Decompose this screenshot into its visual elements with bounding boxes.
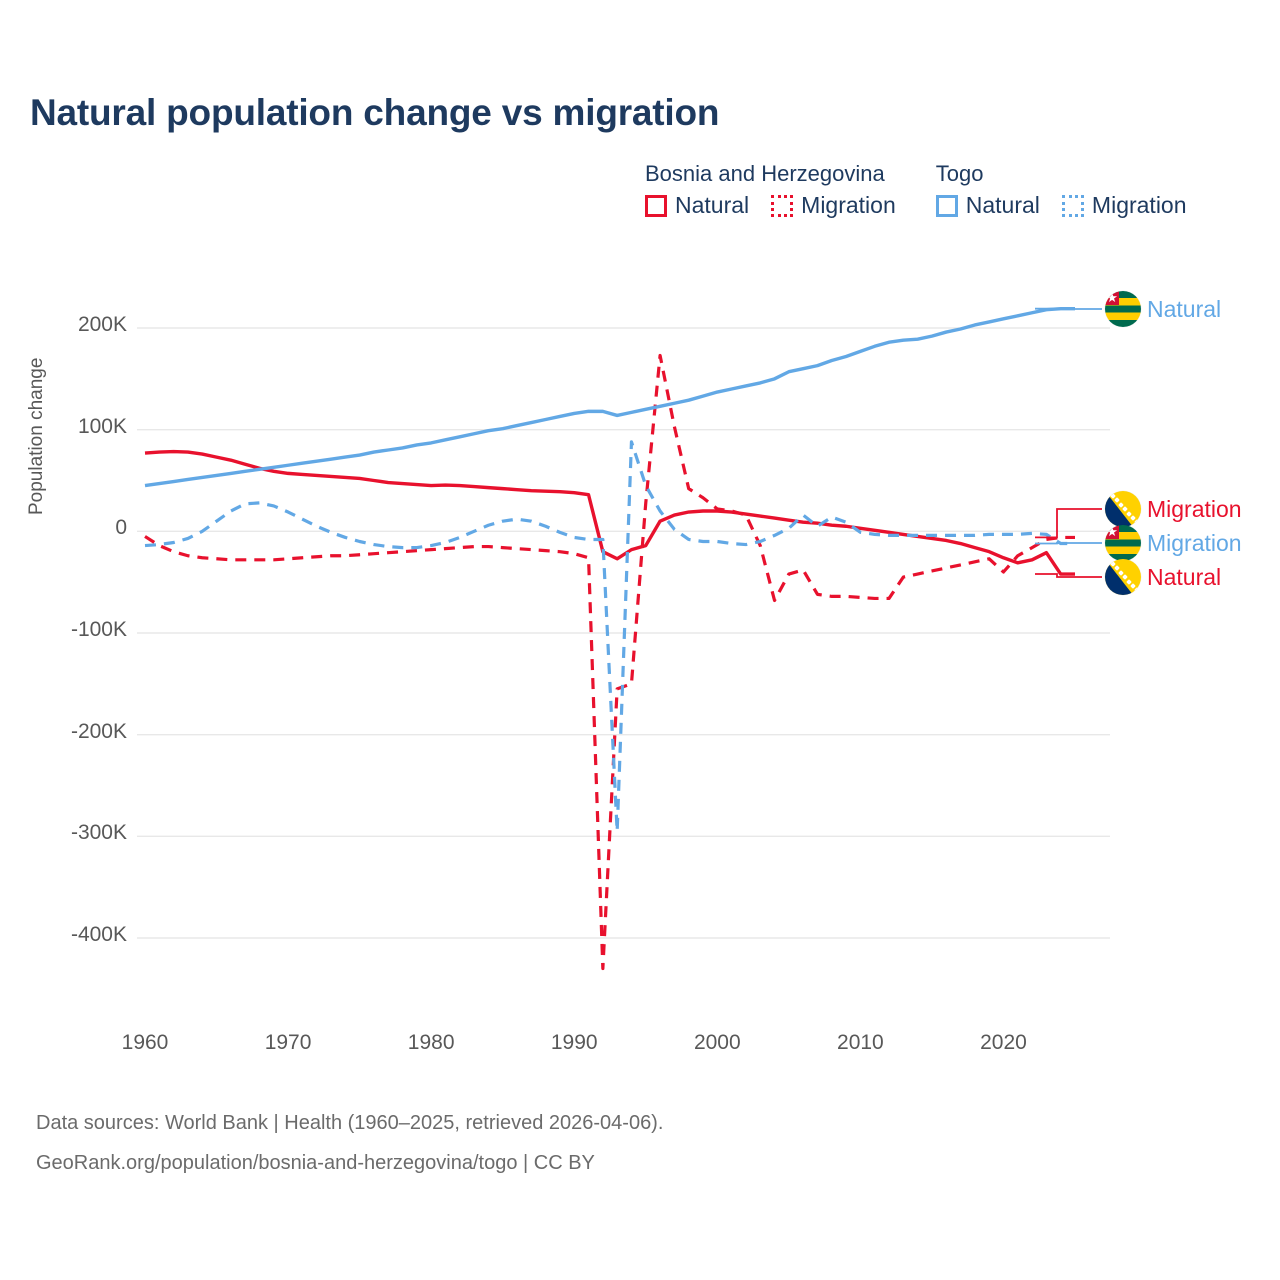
footer-attribution: GeoRank.org/population/bosnia-and-herzeg… <box>36 1152 595 1175</box>
togo-flag-icon <box>1105 291 1141 327</box>
leader-line <box>1035 543 1102 544</box>
series-line <box>145 309 1075 486</box>
series-end-label[interactable]: Natural <box>1105 291 1221 327</box>
x-axis-tick-label: 1980 <box>371 1031 491 1055</box>
series-line <box>145 452 1075 575</box>
togo-flag-icon <box>1105 525 1141 561</box>
series-lines <box>145 309 1075 969</box>
x-axis-tick-label: 1990 <box>514 1031 634 1055</box>
footer-data-sources: Data sources: World Bank | Health (1960–… <box>36 1112 663 1135</box>
series-end-label-text: Natural <box>1147 564 1221 591</box>
series-end-label-text: Migration <box>1147 496 1242 523</box>
chart-plot-area: Population change 200K100K0-100K-200K-30… <box>0 0 1280 1280</box>
x-axis-tick-label: 2010 <box>800 1031 920 1055</box>
y-axis-tick-label: 100K <box>0 415 127 439</box>
series-end-label-text: Natural <box>1147 296 1221 323</box>
y-axis-tick-label: 200K <box>0 313 127 337</box>
series-end-label-text: Migration <box>1147 530 1242 557</box>
y-axis-tick-label: -400K <box>0 923 127 947</box>
y-axis-tick-label: 0 <box>0 516 127 540</box>
series-end-label[interactable]: Natural <box>1105 559 1221 595</box>
y-axis-tick-label: -200K <box>0 720 127 744</box>
x-axis-tick-label: 2000 <box>657 1031 777 1055</box>
bosnia-and-herzegovina-flag-icon <box>1105 559 1141 595</box>
y-axis-tick-label: -100K <box>0 618 127 642</box>
x-axis-tick-label: 1970 <box>228 1031 348 1055</box>
chart-svg <box>0 0 1280 1280</box>
bosnia-and-herzegovina-flag-icon <box>1105 491 1141 527</box>
x-axis-tick-label: 1960 <box>85 1031 205 1055</box>
x-axis-tick-label: 2020 <box>943 1031 1063 1055</box>
series-line <box>145 442 1075 831</box>
series-line <box>145 355 1075 968</box>
y-axis-tick-label: -300K <box>0 821 127 845</box>
series-end-label[interactable]: Migration <box>1105 525 1242 561</box>
series-end-label[interactable]: Migration <box>1105 491 1242 527</box>
